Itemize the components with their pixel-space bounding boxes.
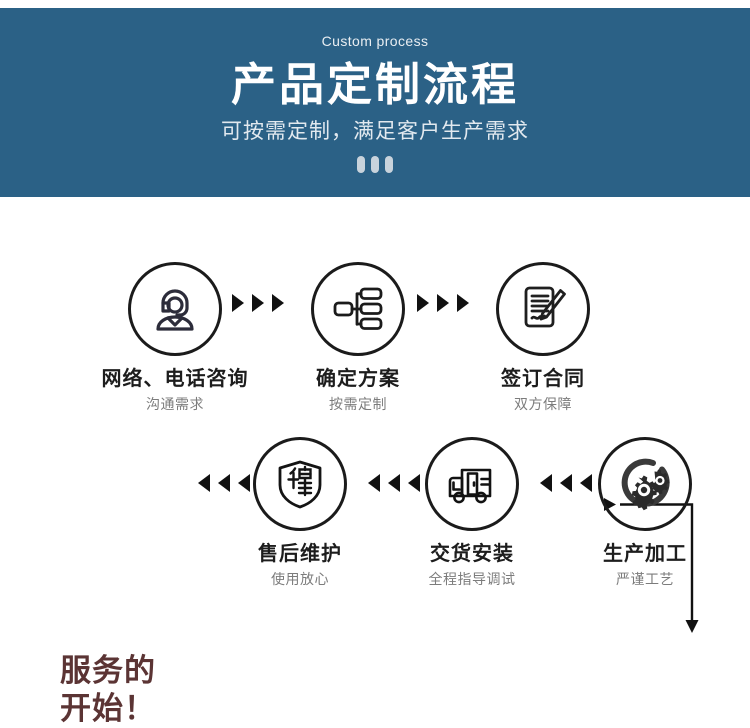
flowchart-plan-icon <box>330 281 386 337</box>
step-delivery-circle <box>425 437 519 531</box>
step-plan[interactable]: 确定方案 按需定制 <box>278 262 438 412</box>
step-delivery[interactable]: 交货安装 全程指导调试 <box>392 437 552 587</box>
page-title: 产品定制流程 <box>0 48 750 110</box>
process-flow-area: 网络、电话咨询 沟通需求 确定方案 按需定制 <box>0 197 750 630</box>
dot-bar-2 <box>371 156 379 173</box>
delivery-truck-icon <box>444 456 500 512</box>
triangle-right-icon <box>252 294 264 312</box>
step-aftersale-title: 售后维护 <box>220 543 380 565</box>
step-aftersale-circle <box>253 437 347 531</box>
step-contract-title: 签订合同 <box>463 368 623 390</box>
triangle-right-icon <box>232 294 244 312</box>
triangle-left-icon <box>198 474 210 492</box>
dot-bar-1 <box>357 156 365 173</box>
dot-bar-3 <box>385 156 393 173</box>
step-production-title: 生产加工 <box>565 543 725 565</box>
step-aftersale-sub: 使用放心 <box>220 572 380 587</box>
header-banner: Custom process 产品定制流程 可按需定制，满足客户生产需求 <box>0 8 750 197</box>
arrow-plan-to-contract <box>417 294 469 312</box>
step-plan-circle <box>311 262 405 356</box>
step-aftersale[interactable]: 售后维护 使用放心 <box>220 437 380 587</box>
service-start-label: 服务的 开始！ <box>60 652 220 728</box>
shield-aftersale-icon <box>273 457 327 511</box>
arrow-consult-to-plan <box>232 294 284 312</box>
step-delivery-title: 交货安装 <box>392 543 552 565</box>
service-start-line2: 开始！ <box>60 690 220 728</box>
step-production-sub: 严谨工艺 <box>565 572 725 587</box>
triangle-left-icon <box>368 474 380 492</box>
step-consult[interactable]: 网络、电话咨询 沟通需求 <box>95 262 255 412</box>
header-subtitle: 可按需定制，满足客户生产需求 <box>0 110 750 142</box>
contract-signing-icon <box>515 281 571 337</box>
step-contract[interactable]: 签订合同 双方保障 <box>463 262 623 412</box>
step-consult-title: 网络、电话咨询 <box>95 368 255 390</box>
gears-production-icon <box>616 455 674 513</box>
header-eyebrow: Custom process <box>0 8 750 48</box>
step-production[interactable]: 生产加工 严谨工艺 <box>565 437 725 587</box>
triangle-right-icon <box>437 294 449 312</box>
step-plan-title: 确定方案 <box>278 368 438 390</box>
dot-decoration <box>357 156 393 173</box>
step-consult-sub: 沟通需求 <box>95 397 255 412</box>
step-delivery-sub: 全程指导调试 <box>392 572 552 587</box>
step-contract-sub: 双方保障 <box>463 397 623 412</box>
triangle-left-icon <box>540 474 552 492</box>
service-start-line1: 服务的 <box>60 652 220 690</box>
triangle-right-icon <box>417 294 429 312</box>
step-plan-sub: 按需定制 <box>278 397 438 412</box>
step-production-circle <box>598 437 692 531</box>
step-consult-circle <box>128 262 222 356</box>
step-contract-circle <box>496 262 590 356</box>
consult-person-headset-icon <box>147 281 203 337</box>
